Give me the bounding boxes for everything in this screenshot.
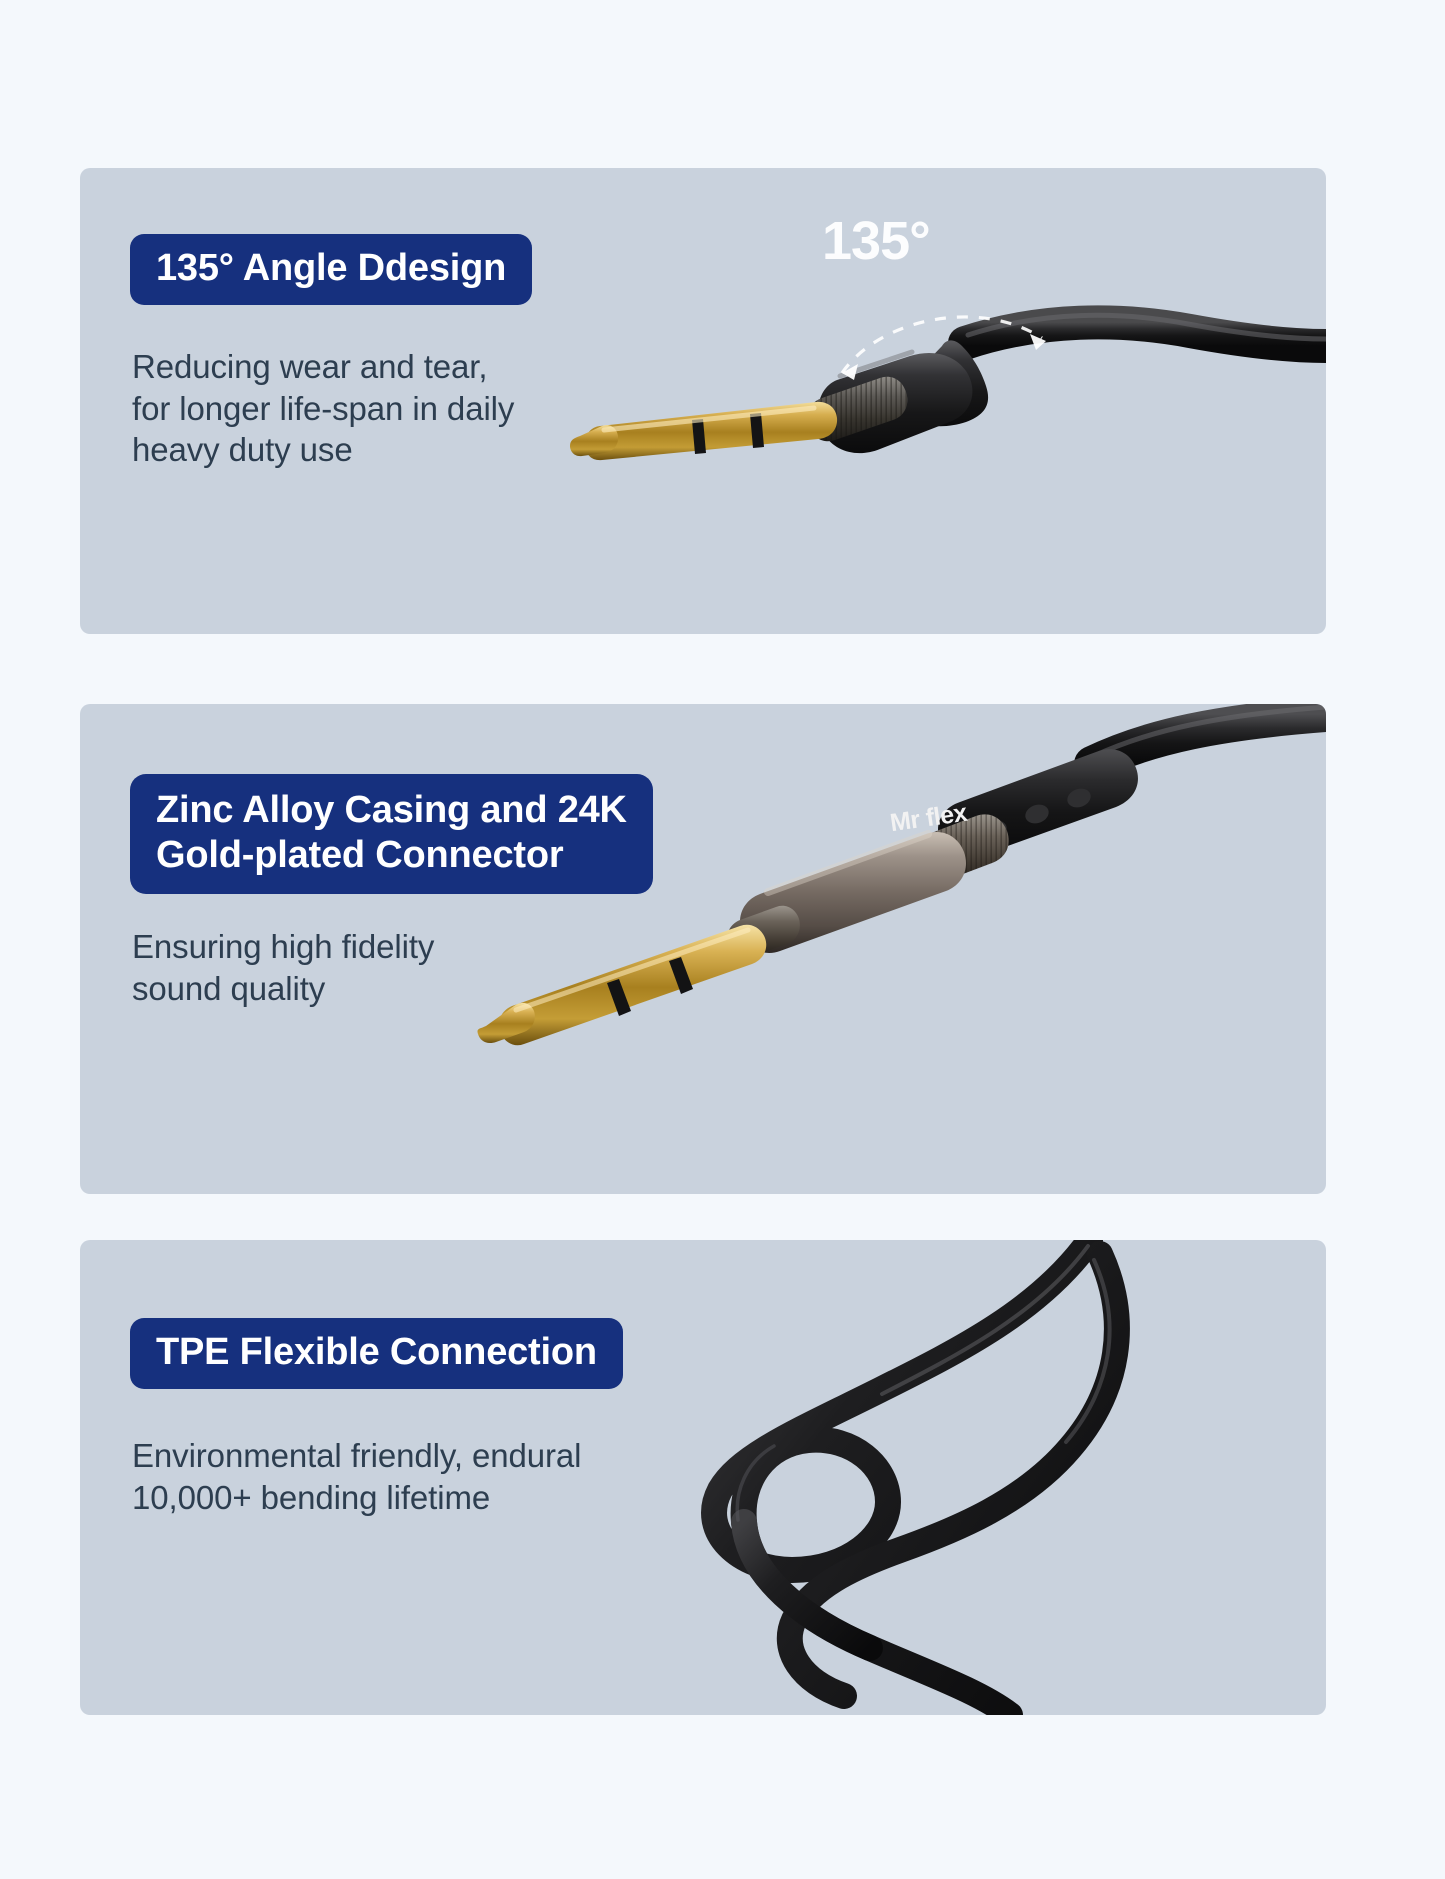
angle-overlay-label: 135° [822, 210, 930, 272]
feature-badge-tpe-flexible: TPE Flexible Connection [130, 1318, 623, 1389]
feature-description-angle-design: Reducing wear and tear, for longer life-… [132, 346, 514, 471]
feature-badge-zinc-alloy: Zinc Alloy Casing and 24K Gold-plated Co… [130, 774, 653, 894]
product-feature-infographic: 135° 135° Angle Ddesign Reducing wear an… [0, 0, 1445, 1879]
feature-description-zinc-alloy: Ensuring high fidelity sound quality [132, 926, 434, 1009]
feature-badge-angle-design: 135° Angle Ddesign [130, 234, 532, 305]
brand-logo-text: Mr flex [888, 799, 968, 838]
feature-card-angle-design: 135° 135° Angle Ddesign Reducing wear an… [80, 168, 1326, 634]
feature-card-zinc-alloy: Mr flex Zinc Alloy Casing and 24K Gold-p… [80, 704, 1326, 1194]
feature-description-tpe-flexible: Environmental friendly, endural 10,000+ … [132, 1435, 581, 1518]
feature-card-tpe-flexible: TPE Flexible Connection Environmental fr… [80, 1240, 1326, 1715]
